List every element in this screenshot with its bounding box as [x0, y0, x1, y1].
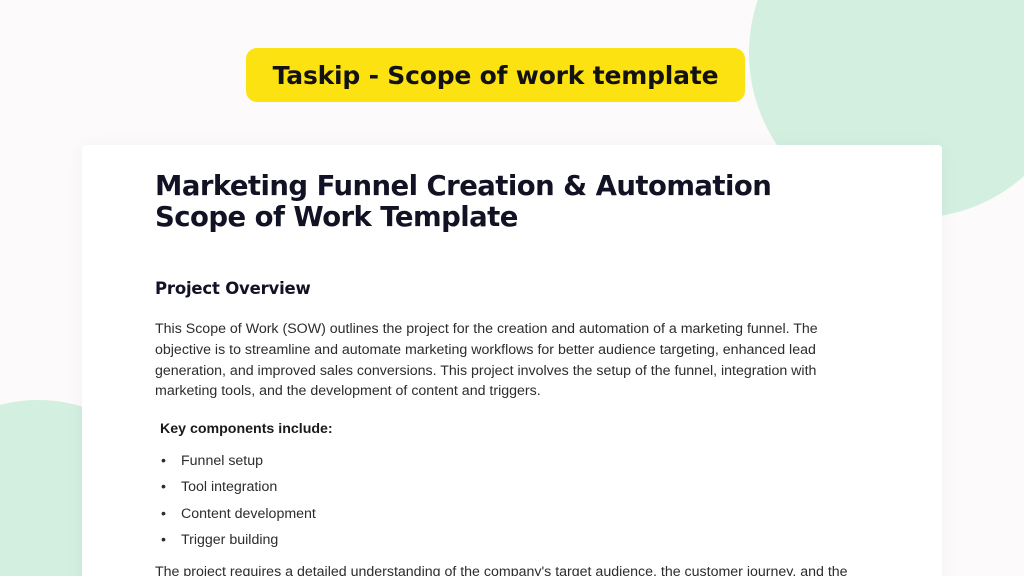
- page-title: Marketing Funnel Creation & Automation S…: [155, 171, 855, 233]
- key-components-list: • Funnel setup • Tool integration • Cont…: [155, 451, 888, 551]
- bullet-icon: •: [161, 477, 166, 498]
- list-item: • Tool integration: [155, 477, 888, 498]
- section-heading-project-overview: Project Overview: [155, 279, 888, 298]
- list-item: • Content development: [155, 504, 888, 525]
- list-item-label: Tool integration: [181, 479, 277, 495]
- overview-paragraph: This Scope of Work (SOW) outlines the pr…: [155, 319, 849, 402]
- document-card: Marketing Funnel Creation & Automation S…: [82, 145, 942, 576]
- slide-canvas: Taskip - Scope of work template Marketin…: [0, 0, 1024, 576]
- document-content: Marketing Funnel Creation & Automation S…: [82, 145, 942, 576]
- list-item: • Funnel setup: [155, 451, 888, 472]
- title-badge-label: Taskip - Scope of work template: [273, 61, 719, 90]
- list-item-label: Trigger building: [181, 532, 278, 548]
- bullet-icon: •: [161, 530, 166, 551]
- key-components-label: Key components include:: [160, 419, 888, 440]
- list-item: • Trigger building: [155, 530, 888, 551]
- list-item-label: Funnel setup: [181, 453, 263, 469]
- closing-paragraph: The project requires a detailed understa…: [155, 562, 881, 576]
- title-badge: Taskip - Scope of work template: [246, 48, 745, 102]
- bullet-icon: •: [161, 504, 166, 525]
- list-item-label: Content development: [181, 506, 316, 522]
- bullet-icon: •: [161, 451, 166, 472]
